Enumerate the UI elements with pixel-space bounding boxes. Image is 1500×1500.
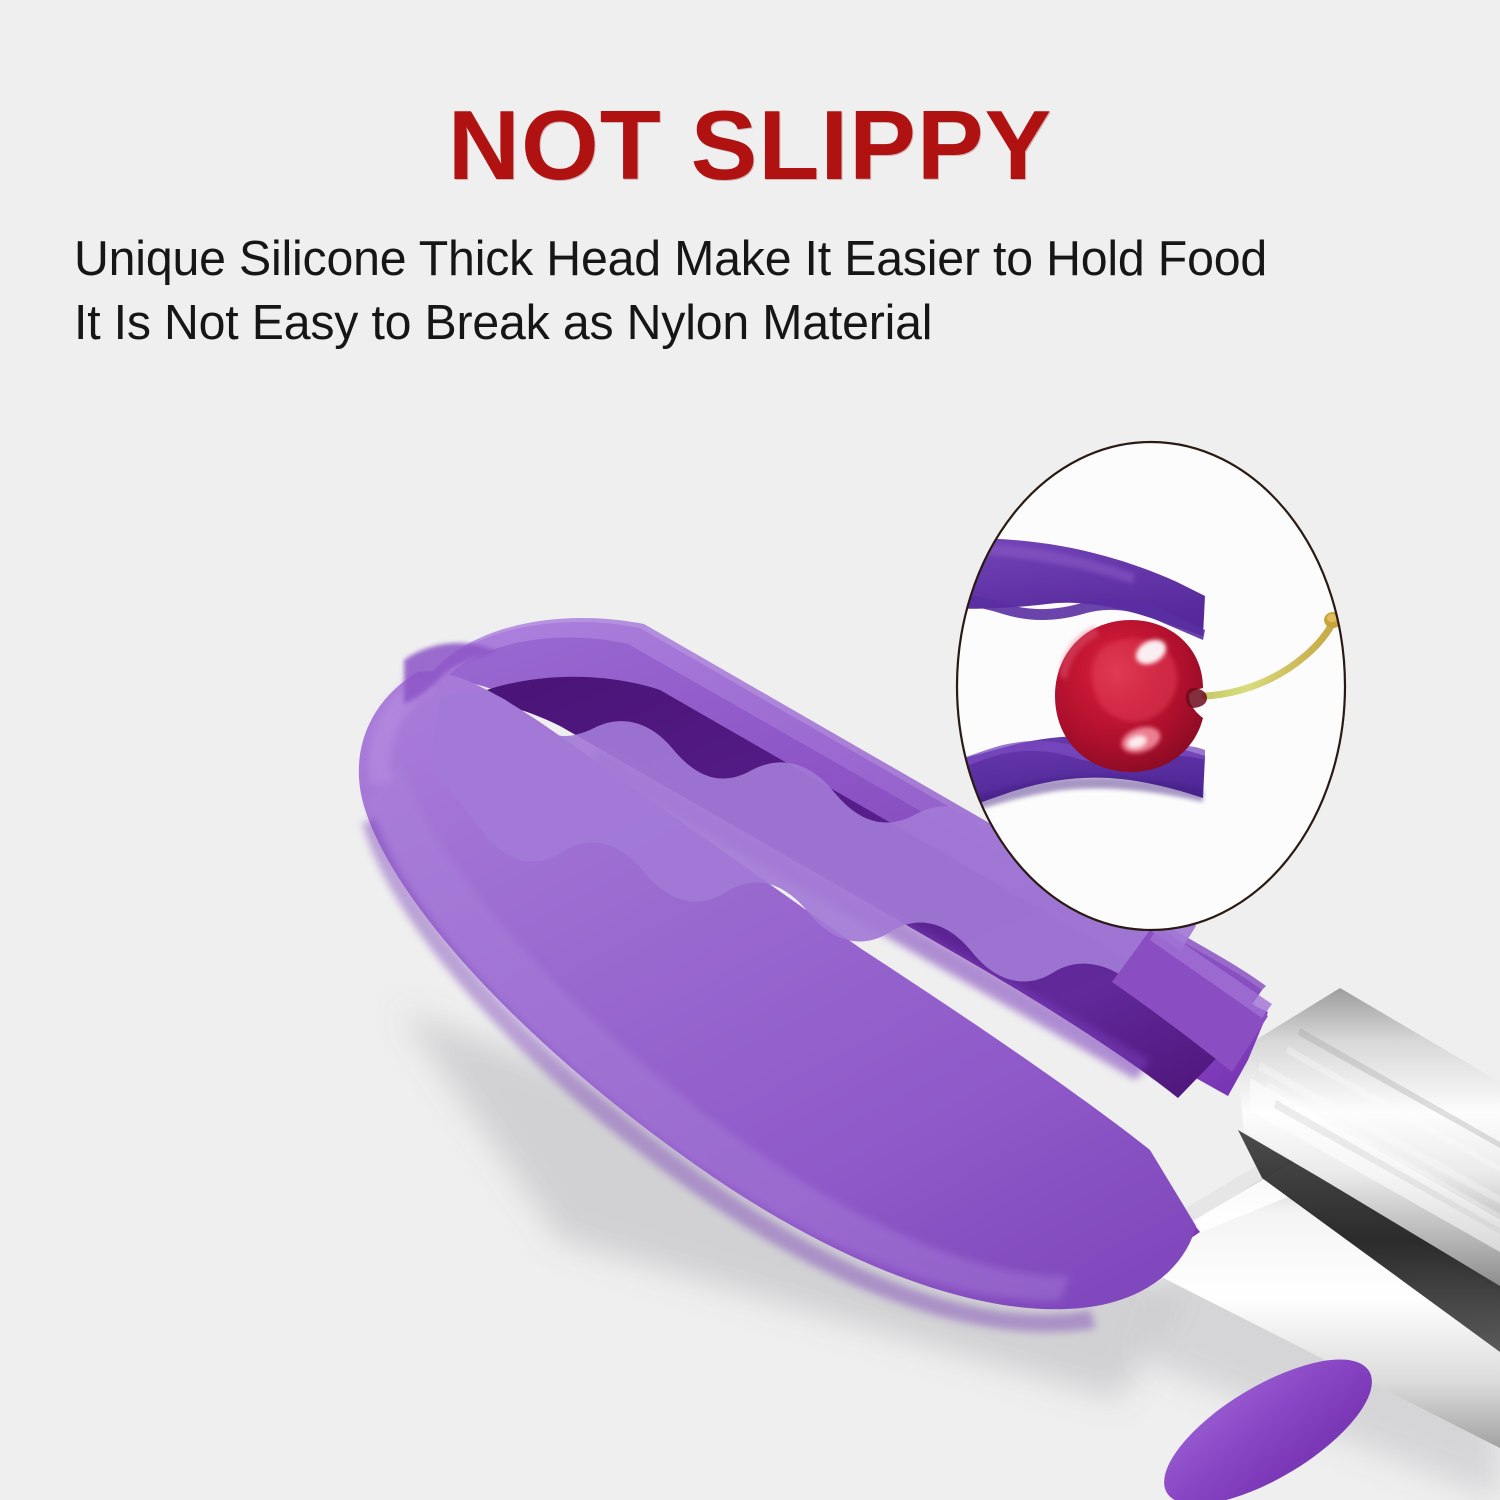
- page-title: NOT SLIPPY: [0, 96, 1500, 194]
- product-marketing-image: NOT SLIPPY Unique Silicone Thick Head Ma…: [0, 0, 1500, 1500]
- subtitle-line-2: It Is Not Easy to Break as Nylon Materia…: [74, 292, 1479, 356]
- subtitle-line-1: Unique Silicone Thick Head Make It Easie…: [74, 228, 1479, 292]
- magnifier-detail-circle: [955, 440, 1347, 932]
- text-block: NOT SLIPPY Unique Silicone Thick Head Ma…: [0, 0, 1500, 355]
- subtitle-group: Unique Silicone Thick Head Make It Easie…: [0, 228, 1500, 355]
